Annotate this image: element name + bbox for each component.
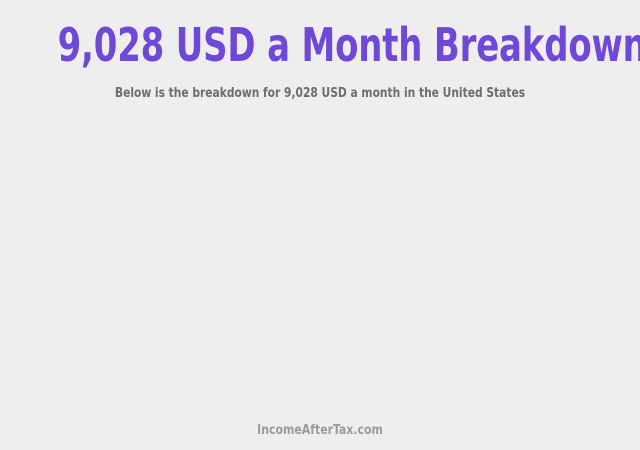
- page-title: 9,028 USD a Month Breakdown: [58, 21, 583, 69]
- page-subtitle: Below is the breakdown for 9,028 USD a m…: [38, 69, 601, 101]
- content-body: [0, 101, 640, 450]
- breakdown-page: 9,028 USD a Month Breakdown Below is the…: [0, 0, 640, 450]
- page-header: 9,028 USD a Month Breakdown Below is the…: [0, 0, 640, 101]
- page-footer: IncomeAfterTax.com: [0, 422, 640, 438]
- site-watermark: IncomeAfterTax.com: [32, 422, 608, 438]
